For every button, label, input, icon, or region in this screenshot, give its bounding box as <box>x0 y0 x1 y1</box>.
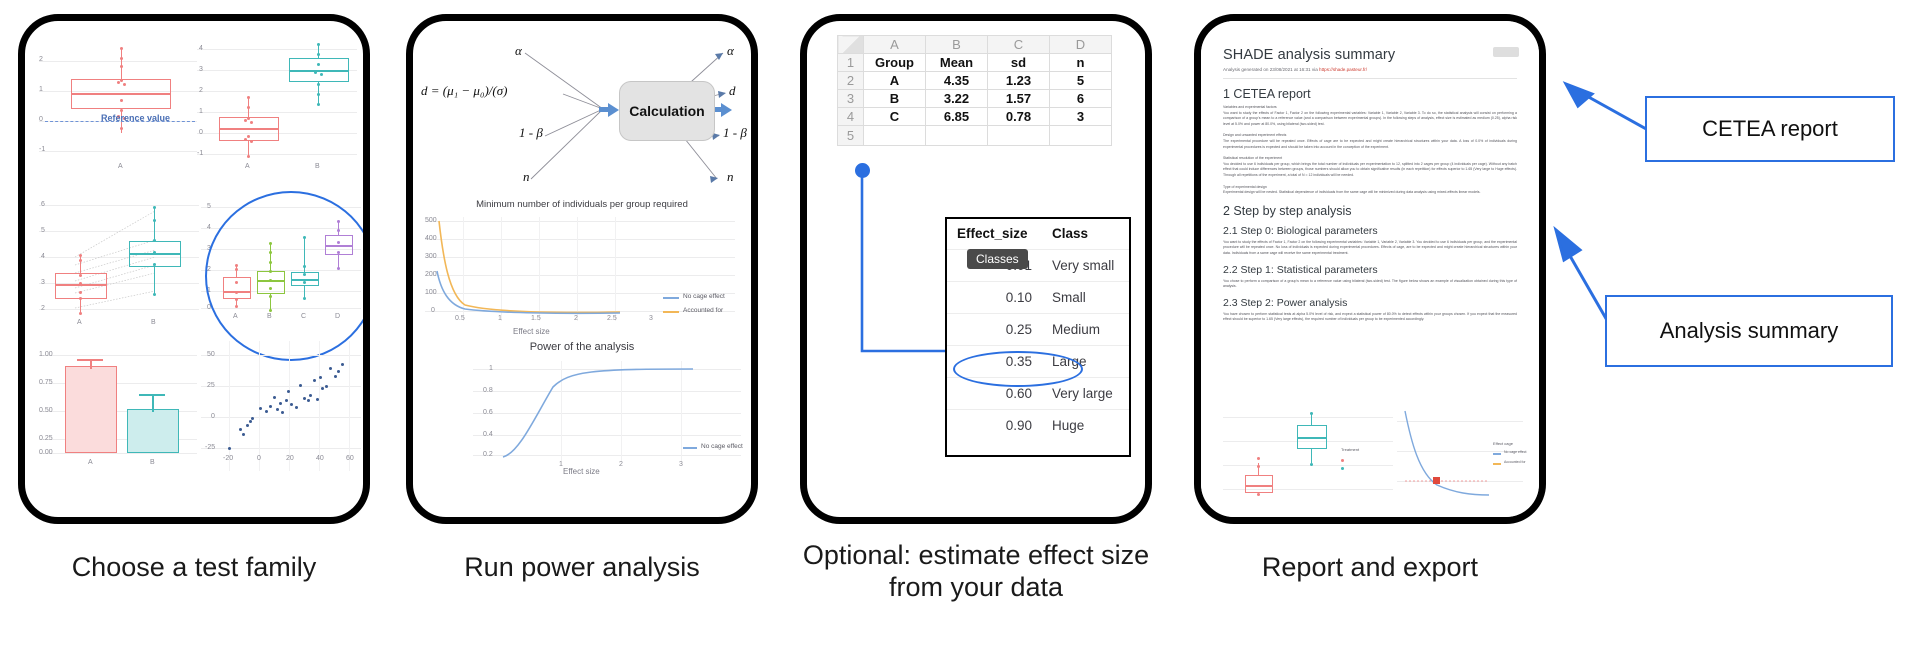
x-tick: 60 <box>346 455 354 462</box>
x-tick: B <box>150 459 155 466</box>
chart-proportions-bar: 1.00 0.75 0.50 0.25 0.00 A B <box>39 341 197 471</box>
highlight-circle <box>205 191 370 361</box>
row-header[interactable]: 4 <box>838 108 864 126</box>
effect-size-value: 0.10 <box>947 282 1042 314</box>
legend-item: Accounted for <box>1504 460 1526 464</box>
y-tick: 1 <box>39 86 43 93</box>
cell-d3[interactable]: 6 <box>1050 90 1112 108</box>
panel-1-content: 2 1 0 -1 <box>25 21 363 517</box>
chart-power-analysis: 1 0.8 0.6 0.4 0.2 1 2 3 No cage effect <box>473 361 741 461</box>
section-block: Type of experimental design Experimental… <box>1223 185 1517 196</box>
section-block: Design and unwanted experiment effects T… <box>1223 133 1517 150</box>
row-header[interactable]: 5 <box>838 126 864 146</box>
arrow-right-out-icon <box>721 103 732 117</box>
panel-run-power-analysis: α d = (μ₁ − μ₀)/(σ) 1 - β n Calculation … <box>406 14 758 524</box>
table-row[interactable]: 0.25 Medium <box>947 314 1129 346</box>
effect-size-table[interactable]: Effect_size Class 0.01 Very small 0.10 S… <box>945 217 1131 457</box>
chart-power-xlabel: Effect size <box>563 467 600 476</box>
section-block: Statistical resolution of the experiment… <box>1223 156 1517 178</box>
corner-cell <box>838 36 864 54</box>
figure-treatment-label: Treatment <box>1341 447 1359 452</box>
x-tick: 1.5 <box>531 315 541 322</box>
y-tick: -1 <box>197 150 203 157</box>
table-row: 3 B 3.22 1.57 6 <box>838 90 1112 108</box>
y-tick: 0 <box>199 129 203 136</box>
effect-table-header-row: Effect_size Class <box>947 219 1129 250</box>
column-header-a[interactable]: A <box>864 36 926 54</box>
x-tick: 0.5 <box>455 315 465 322</box>
y-tick: 1 <box>199 108 203 115</box>
output-alpha: α <box>727 43 734 59</box>
x-tick: A <box>245 163 250 170</box>
legend-item: No cage effect <box>683 293 725 300</box>
panel-4-caption: Report and export <box>1194 552 1546 584</box>
block-lead: Statistical resolution of the experiment <box>1223 156 1282 160</box>
figure-legend-title: Effect cage <box>1493 441 1513 446</box>
panel-3-caption: Optional: estimate effect size from your… <box>790 540 1162 604</box>
table-row: 4 C 6.85 0.78 3 <box>838 108 1112 126</box>
y-tick: 0 <box>211 413 215 420</box>
x-tick: 2 <box>574 315 578 322</box>
cell-a4[interactable]: C <box>864 108 926 126</box>
y-tick: 0.75 <box>39 379 53 386</box>
y-tick: -25 <box>205 444 215 451</box>
x-tick: A <box>77 319 82 326</box>
y-tick: 0.25 <box>39 435 53 442</box>
y-tick: 4 <box>199 45 203 52</box>
report-document: SHADE analysis summary Analysis generate… <box>1201 21 1539 517</box>
legend-item: No cage effect <box>1504 450 1527 454</box>
x-tick: 2 <box>619 461 623 468</box>
y-tick: 4 <box>207 224 211 231</box>
callout-label: Analysis summary <box>1660 318 1838 344</box>
effect-size-value: 0.25 <box>947 314 1042 346</box>
cell-c5[interactable] <box>988 126 1050 146</box>
cell-a2[interactable]: A <box>864 72 926 90</box>
chart-min-individuals: 500 400 300 200 100 0 0.5 1 1.5 2 2.5 3 … <box>425 217 735 321</box>
callout-cetea-report: CETEA report <box>1645 96 1895 162</box>
subsection-text: You chose to perform a comparison of a g… <box>1223 279 1517 290</box>
subsection-text: You want to study the effects of Factor … <box>1223 240 1517 257</box>
workflow-diagram: 2 1 0 -1 <box>0 0 1906 660</box>
min-individuals-curves <box>425 217 735 321</box>
x-tick: B <box>151 319 156 326</box>
report-link[interactable]: https://shade.pasteur.fr/ <box>1319 67 1367 72</box>
x-tick: 0 <box>257 455 261 462</box>
input-n: n <box>523 169 530 185</box>
chart-one-sample-box: 2 1 0 -1 <box>39 39 197 179</box>
section-block: Variables and experimental factors You w… <box>1223 105 1517 127</box>
x-tick: 40 <box>316 455 324 462</box>
data-spreadsheet[interactable]: A B C D 1 Group Mean sd n 2 A 4.35 1.23 <box>837 35 1112 146</box>
block-lead: Design and unwanted experiment effects <box>1223 133 1286 137</box>
column-header-b[interactable]: B <box>926 36 988 54</box>
block-text: You want to study the effects of Factor … <box>1223 111 1517 126</box>
x-tick: A <box>88 459 93 466</box>
block-lead: Type of experimental design <box>1223 185 1267 189</box>
cell-d4[interactable]: 3 <box>1050 108 1112 126</box>
callout-analysis-summary: Analysis summary <box>1605 295 1893 367</box>
y-tick: -1 <box>39 146 45 153</box>
block-text: You decided to use 6 individuals per gro… <box>1223 162 1517 177</box>
cell-b5[interactable] <box>926 126 988 146</box>
panel-2-caption: Run power analysis <box>406 552 758 584</box>
y-tick: 3 <box>199 66 203 73</box>
panel-estimate-effect-size: A B C D 1 Group Mean sd n 2 A 4.35 1.23 <box>800 14 1152 524</box>
y-tick: 5 <box>207 203 211 210</box>
input-power: 1 - β <box>519 125 543 141</box>
x-tick: 3 <box>679 461 683 468</box>
table-row[interactable]: 0.10 Small <box>947 282 1129 314</box>
chart-correlation-scatter: 50 25 0 -25 -20 0 20 40 60 <box>201 341 361 471</box>
chart-power-title: Power of the analysis <box>413 341 751 353</box>
cell-d1[interactable]: n <box>1050 54 1112 72</box>
table-row: 1 Group Mean sd n <box>838 54 1112 72</box>
y-tick: 0.00 <box>39 449 53 456</box>
y-tick: 0 <box>39 116 43 123</box>
x-tick: 1 <box>498 315 502 322</box>
subsection-heading-2-2: 2.2 Step 1: Statistical parameters <box>1223 264 1517 276</box>
block-text: The experimental procedure will be repea… <box>1223 139 1517 149</box>
cell-a5[interactable] <box>864 126 926 146</box>
cell-b4[interactable]: 6.85 <box>926 108 988 126</box>
reference-value-label: Reference value <box>101 113 170 123</box>
x-tick: 2.5 <box>607 315 617 322</box>
effect-size-class: Medium <box>1042 314 1129 346</box>
cell-a1[interactable]: Group <box>864 54 926 72</box>
effect-size-value: 0.90 <box>947 410 1042 442</box>
cell-d2[interactable]: 5 <box>1050 72 1112 90</box>
x-tick: 3 <box>649 315 653 322</box>
legend-item: No cage effect <box>701 443 743 450</box>
y-tick: 1.00 <box>39 351 53 358</box>
classes-tooltip: Classes <box>967 249 1028 269</box>
x-tick: -20 <box>223 455 233 462</box>
subsection-text: You have chosen to perform statistical t… <box>1223 312 1517 323</box>
cell-a3[interactable]: B <box>864 90 926 108</box>
table-row: 2 A 4.35 1.23 5 <box>838 72 1112 90</box>
report-title: SHADE analysis summary <box>1223 47 1517 63</box>
panel-choose-test-family: 2 1 0 -1 <box>18 14 370 524</box>
x-tick: A <box>118 163 123 170</box>
table-row: 5 <box>838 126 1112 146</box>
effect-size-class: Very small <box>1042 250 1129 282</box>
effect-size-header: Effect_size <box>947 219 1042 250</box>
panel-1-caption: Choose a test family <box>18 552 370 584</box>
section-heading-2: 2 Step by step analysis <box>1223 204 1517 218</box>
output-d: d <box>729 83 736 99</box>
spreadsheet-column-header-row: A B C D <box>838 36 1112 54</box>
export-badge[interactable] <box>1493 47 1519 57</box>
legend-item: Accounted for <box>683 307 723 314</box>
chart-n-title: Minimum number of individuals per group … <box>413 199 751 210</box>
panel-2-content: α d = (μ₁ − μ₀)/(σ) 1 - β n Calculation … <box>413 21 751 517</box>
chart-n-xlabel: Effect size <box>513 327 550 336</box>
arrow-right-icon <box>608 103 619 117</box>
callout-label: CETEA report <box>1702 116 1838 142</box>
y-tick: 0.50 <box>39 407 53 414</box>
column-header-d[interactable]: D <box>1050 36 1112 54</box>
row-header[interactable]: 3 <box>838 90 864 108</box>
divider <box>1223 78 1517 79</box>
x-tick: B <box>315 163 320 170</box>
subsection-heading-2-1: 2.1 Step 0: Biological parameters <box>1223 225 1517 237</box>
cell-c4[interactable]: 0.78 <box>988 108 1050 126</box>
input-effect-size-formula: d = (μ₁ − μ₀)/(σ) <box>421 83 507 99</box>
section-heading-1: 1 CETEA report <box>1223 87 1517 101</box>
column-header-c[interactable]: C <box>988 36 1050 54</box>
effect-size-class: Small <box>1042 282 1129 314</box>
large-row-highlight-ellipse <box>953 351 1083 387</box>
cell-b3[interactable]: 3.22 <box>926 90 988 108</box>
output-n: n <box>727 169 734 185</box>
chart-two-group-box: 4 3 2 1 0 -1 <box>197 39 357 179</box>
calculation-label: Calculation <box>629 103 704 119</box>
report-figure-curve: Effect cage No cage effect Accounted for <box>1397 407 1523 511</box>
effect-size-class: Huge <box>1042 410 1129 442</box>
y-tick: 2 <box>199 87 203 94</box>
block-lead: Variables and experimental factors <box>1223 105 1277 109</box>
panel-3-content: A B C D 1 Group Mean sd n 2 A 4.35 1.23 <box>807 21 1145 517</box>
y-tick: 50 <box>207 351 215 358</box>
class-header: Class <box>1042 219 1129 250</box>
table-row[interactable]: 0.90 Huge <box>947 410 1129 442</box>
chart-paired-box: 6 5 4 3 2 <box>39 193 199 333</box>
block-text: Experimental design will be nested. Stat… <box>1223 190 1481 194</box>
report-subtitle-text: Analysis generated on 23/08/2021 at 16:3… <box>1223 67 1319 72</box>
calculation-node: Calculation <box>619 81 715 141</box>
panel-report-and-export: SHADE analysis summary Analysis generate… <box>1194 14 1546 524</box>
output-power: 1 - β <box>723 125 747 141</box>
report-subtitle: Analysis generated on 23/08/2021 at 16:3… <box>1223 67 1517 72</box>
subsection-heading-2-3: 2.3 Step 2: Power analysis <box>1223 297 1517 309</box>
input-alpha: α <box>515 43 522 59</box>
y-tick: 25 <box>207 382 215 389</box>
cell-c2[interactable]: 1.23 <box>988 72 1050 90</box>
cell-d5[interactable] <box>1050 126 1112 146</box>
cell-c1[interactable]: sd <box>988 54 1050 72</box>
x-tick: 20 <box>286 455 294 462</box>
cell-c3[interactable]: 1.57 <box>988 90 1050 108</box>
cell-b2[interactable]: 4.35 <box>926 72 988 90</box>
report-curve-path <box>1397 407 1523 511</box>
row-header[interactable]: 2 <box>838 72 864 90</box>
cell-b1[interactable]: Mean <box>926 54 988 72</box>
row-header[interactable]: 1 <box>838 54 864 72</box>
y-tick: 2 <box>39 56 43 63</box>
report-figure-box: Treatment <box>1223 407 1393 511</box>
